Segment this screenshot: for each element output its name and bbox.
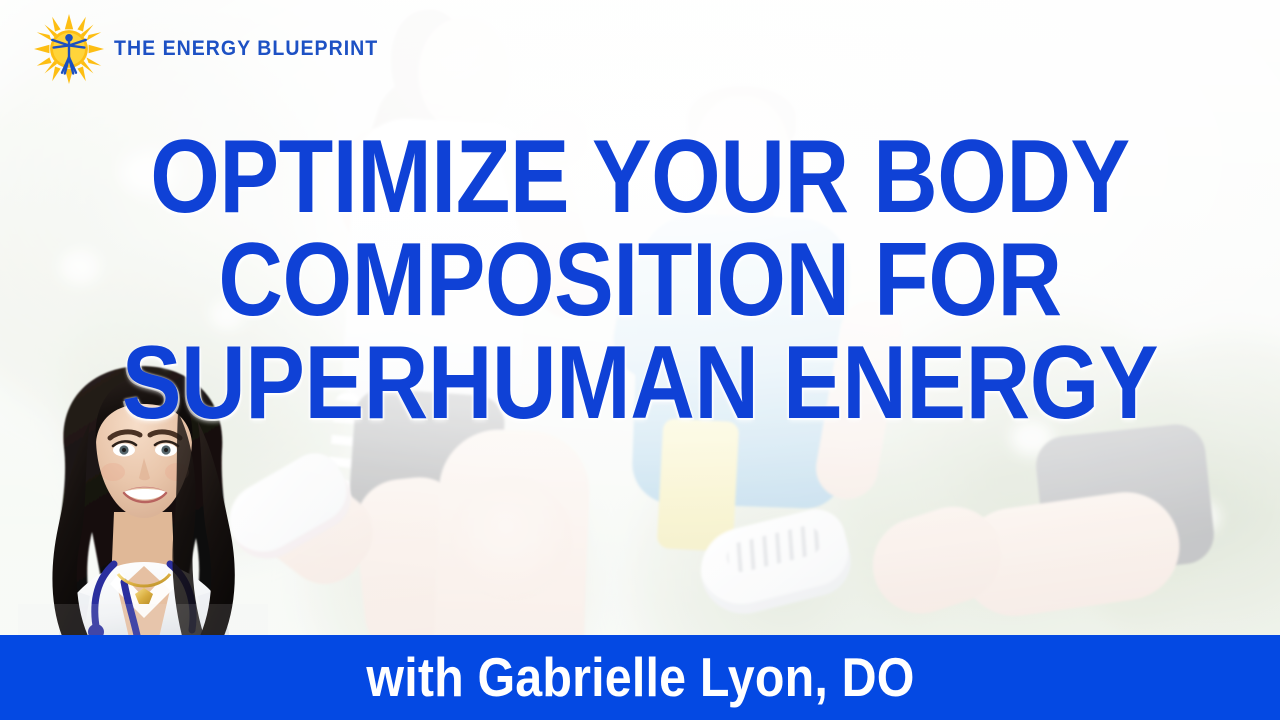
sun-vitruvian-man-icon bbox=[34, 14, 104, 84]
brand-logo[interactable]: THE ENERGY BLUEPRINT bbox=[34, 14, 398, 84]
video-thumbnail: THE ENERGY BLUEPRINT OPTIMIZE YOUR BODY … bbox=[0, 0, 1280, 720]
brand-wordmark: THE ENERGY BLUEPRINT bbox=[114, 37, 378, 61]
headshot-graphic bbox=[18, 352, 268, 642]
presenter-credit-bar: with Gabrielle Lyon, DO bbox=[0, 635, 1280, 720]
presenter-headshot bbox=[18, 352, 268, 642]
presenter-credit-text: with Gabrielle Lyon, DO bbox=[366, 650, 914, 705]
